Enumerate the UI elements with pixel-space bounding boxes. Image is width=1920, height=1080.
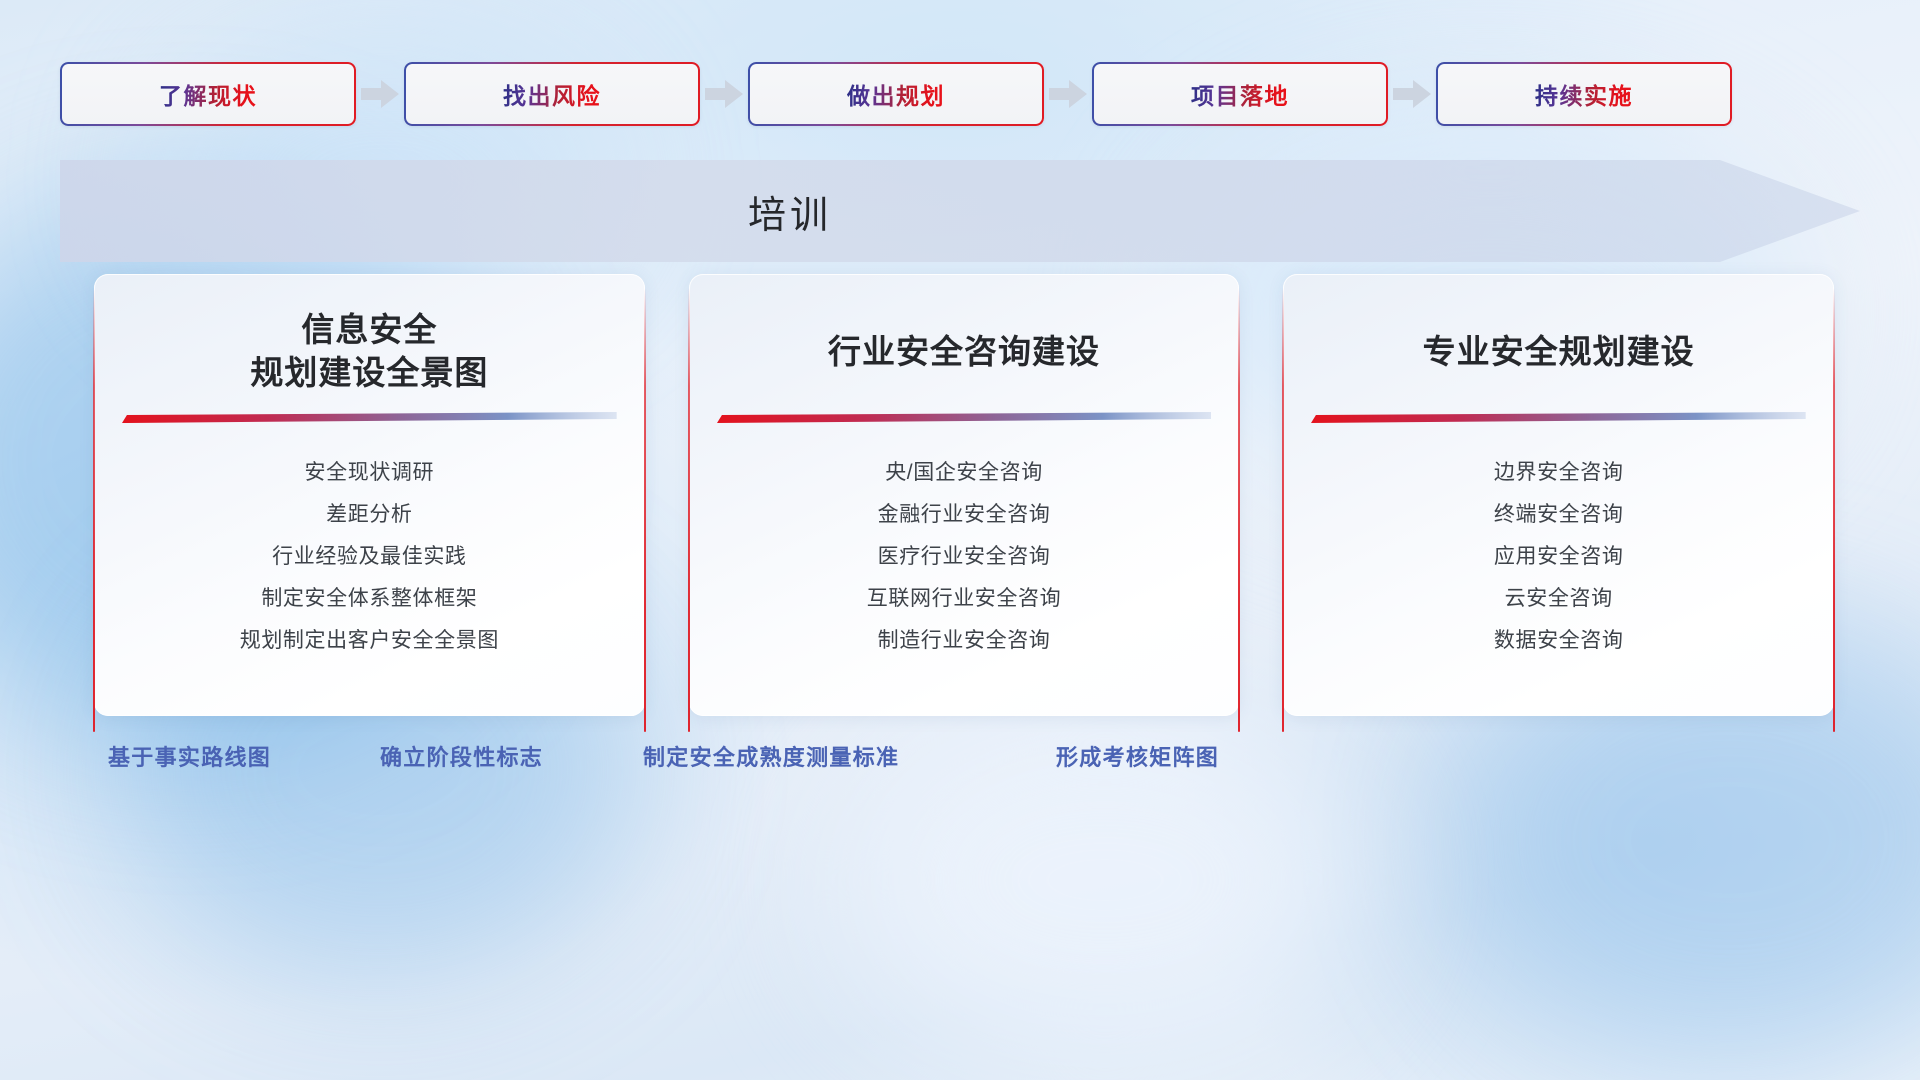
process-step-label: 做出规划 [847,77,945,111]
card-item-list: 边界安全咨询终端安全咨询应用安全咨询云安全咨询数据安全咨询 [1283,452,1834,662]
card-list-item: 互联网行业安全咨询 [689,578,1240,620]
card-list-item: 安全现状调研 [94,452,645,494]
chevron-right-block-icon [356,62,404,126]
card-list-item: 央/国企安全咨询 [689,452,1240,494]
caption-4: 形成考核矩阵图 [1056,740,1219,772]
card-item-list: 安全现状调研差距分析行业经验及最佳实践制定安全体系整体框架规划制定出客户安全全景… [94,452,645,662]
card-list-item: 行业经验及最佳实践 [94,536,645,578]
card-divider [1311,412,1806,426]
card-list-item: 金融行业安全咨询 [689,494,1240,536]
process-step-2[interactable]: 找出风险 [404,62,700,126]
card-title: 信息安全规划建设全景图 [250,308,488,396]
process-step-3[interactable]: 做出规划 [748,62,1044,126]
card-list-item: 制造行业安全咨询 [689,620,1240,662]
service-card-2[interactable]: 行业安全咨询建设央/国企安全咨询金融行业安全咨询医疗行业安全咨询互联网行业安全咨… [689,274,1240,716]
card-item-list: 央/国企安全咨询金融行业安全咨询医疗行业安全咨询互联网行业安全咨询制造行业安全咨… [689,452,1240,662]
process-step-4[interactable]: 项目落地 [1092,62,1388,126]
card-divider [717,412,1212,426]
card-list-item: 应用安全咨询 [1283,536,1834,578]
card-list-item: 数据安全咨询 [1283,620,1834,662]
card-title-line-1: 信息安全 [250,309,488,352]
card-title-line-2: 规划建设全景图 [250,352,488,395]
card-title-line-1: 专业安全规划建设 [1423,331,1695,374]
process-step-1[interactable]: 了解现状 [60,62,356,126]
card-list-item: 边界安全咨询 [1283,452,1834,494]
caption-1: 基于事实路线图 [108,740,271,772]
caption-2: 确立阶段性标志 [380,740,543,772]
process-step-label: 持续实施 [1535,77,1633,111]
caption-row: 基于事实路线图确立阶段性标志制定安全成熟度测量标准形成考核矩阵图 [0,740,1920,786]
chevron-right-block-icon [1044,62,1092,126]
caption-3: 制定安全成熟度测量标准 [643,740,899,772]
card-list-item: 差距分析 [94,494,645,536]
card-title: 专业安全规划建设 [1423,308,1695,396]
card-list-item: 医疗行业安全咨询 [689,536,1240,578]
chevron-right-block-icon [700,62,748,126]
card-list-item: 制定安全体系整体框架 [94,578,645,620]
service-card-3[interactable]: 专业安全规划建设边界安全咨询终端安全咨询应用安全咨询云安全咨询数据安全咨询 [1283,274,1834,716]
training-banner: 培训 [60,160,1860,262]
card-list-item: 云安全咨询 [1283,578,1834,620]
chevron-right-block-icon [1388,62,1436,126]
banner-label: 培训 [60,160,1520,262]
card-divider [122,412,617,426]
process-step-5[interactable]: 持续实施 [1436,62,1732,126]
slide-canvas: 了解现状找出风险做出规划项目落地持续实施 培训 信息安全规划建设全景图安全现状调… [0,0,1920,1080]
process-step-row: 了解现状找出风险做出规划项目落地持续实施 [60,62,1860,126]
process-step-label: 项目落地 [1191,77,1289,111]
card-list-item: 规划制定出客户安全全景图 [94,620,645,662]
card-title-line-1: 行业安全咨询建设 [828,331,1100,374]
process-step-label: 找出风险 [503,77,601,111]
card-title: 行业安全咨询建设 [828,308,1100,396]
card-row: 信息安全规划建设全景图安全现状调研差距分析行业经验及最佳实践制定安全体系整体框架… [94,274,1834,716]
card-list-item: 终端安全咨询 [1283,494,1834,536]
process-step-label: 了解现状 [159,77,257,111]
service-card-1[interactable]: 信息安全规划建设全景图安全现状调研差距分析行业经验及最佳实践制定安全体系整体框架… [94,274,645,716]
